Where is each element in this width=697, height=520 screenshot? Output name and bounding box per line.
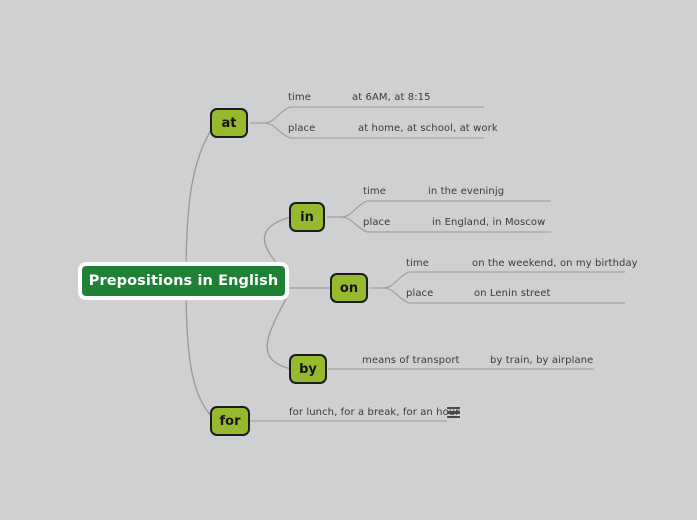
branch-node-at-label: at xyxy=(222,116,237,131)
edge-at-time xyxy=(264,107,484,123)
sublabel-in-time: time xyxy=(363,186,386,197)
sublabel-in-place: place xyxy=(363,217,390,228)
leaf-on-time: on the weekend, on my birthday xyxy=(472,258,638,269)
edge-root-by xyxy=(267,293,292,369)
leaf-at-time: at 6AM, at 8:15 xyxy=(352,92,431,103)
branch-node-on-label: on xyxy=(340,281,358,296)
edge-root-at xyxy=(186,124,215,281)
branch-node-on[interactable]: on xyxy=(330,273,368,303)
sublabel-at-time: time xyxy=(288,92,311,103)
branch-node-in-label: in xyxy=(300,210,314,225)
branch-node-for-label: for xyxy=(220,414,241,429)
leaf-in-time: in the eveninjg xyxy=(428,186,504,197)
sublabel-by-means: means of transport xyxy=(362,355,460,366)
branch-node-by[interactable]: by xyxy=(289,354,327,384)
sublabel-for-examples: for lunch, for a break, for an hour xyxy=(289,407,459,418)
sublabel-at-place: place xyxy=(288,123,315,134)
notes-icon-line-2 xyxy=(447,411,460,413)
root-node-label: Prepositions in English xyxy=(89,273,279,289)
notes-icon-line-1 xyxy=(447,407,460,409)
mindmap-canvas[interactable]: Prepositions in English at time at 6AM, … xyxy=(0,0,697,520)
edge-in-time xyxy=(341,201,551,217)
leaf-on-place: on Lenin street xyxy=(474,288,551,299)
leaf-in-place: in England, in Moscow xyxy=(432,217,545,228)
leaf-by-means: by train, by airplane xyxy=(490,355,593,366)
branch-node-by-label: by xyxy=(299,362,317,377)
root-node[interactable]: Prepositions in English xyxy=(78,262,289,300)
sublabel-on-time: time xyxy=(406,258,429,269)
leaf-at-place: at home, at school, at work xyxy=(358,123,498,134)
notes-icon[interactable] xyxy=(447,407,460,418)
branch-node-for[interactable]: for xyxy=(210,406,250,436)
sublabel-on-place: place xyxy=(406,288,433,299)
edge-on-time xyxy=(383,272,625,288)
notes-icon-line-3 xyxy=(447,416,460,418)
branch-node-at[interactable]: at xyxy=(210,108,248,138)
edge-root-for xyxy=(186,281,213,418)
branch-node-in[interactable]: in xyxy=(289,202,325,232)
